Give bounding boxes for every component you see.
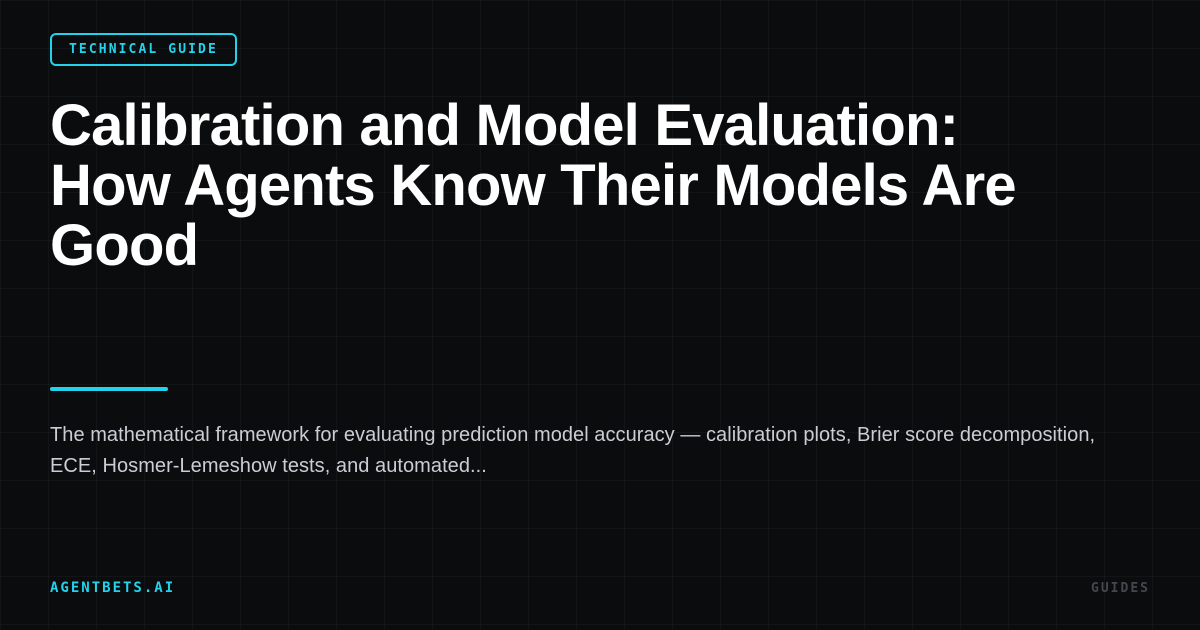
page-subtitle: The mathematical framework for evaluatin…: [50, 420, 1125, 482]
accent-divider: [50, 387, 168, 391]
card-content: TECHNICAL GUIDE Calibration and Model Ev…: [0, 0, 1200, 630]
guide-share-card: TECHNICAL GUIDE Calibration and Model Ev…: [0, 0, 1200, 630]
page-title: Calibration and Model Evaluation: How Ag…: [50, 96, 1090, 276]
card-footer: AGENTBETS.AI GUIDES: [50, 578, 1150, 598]
category-badge-label: TECHNICAL GUIDE: [69, 43, 218, 56]
brand-wordmark: AGENTBETS.AI: [50, 581, 175, 595]
category-badge: TECHNICAL GUIDE: [50, 33, 237, 66]
footer-section-label: GUIDES: [1091, 582, 1150, 595]
